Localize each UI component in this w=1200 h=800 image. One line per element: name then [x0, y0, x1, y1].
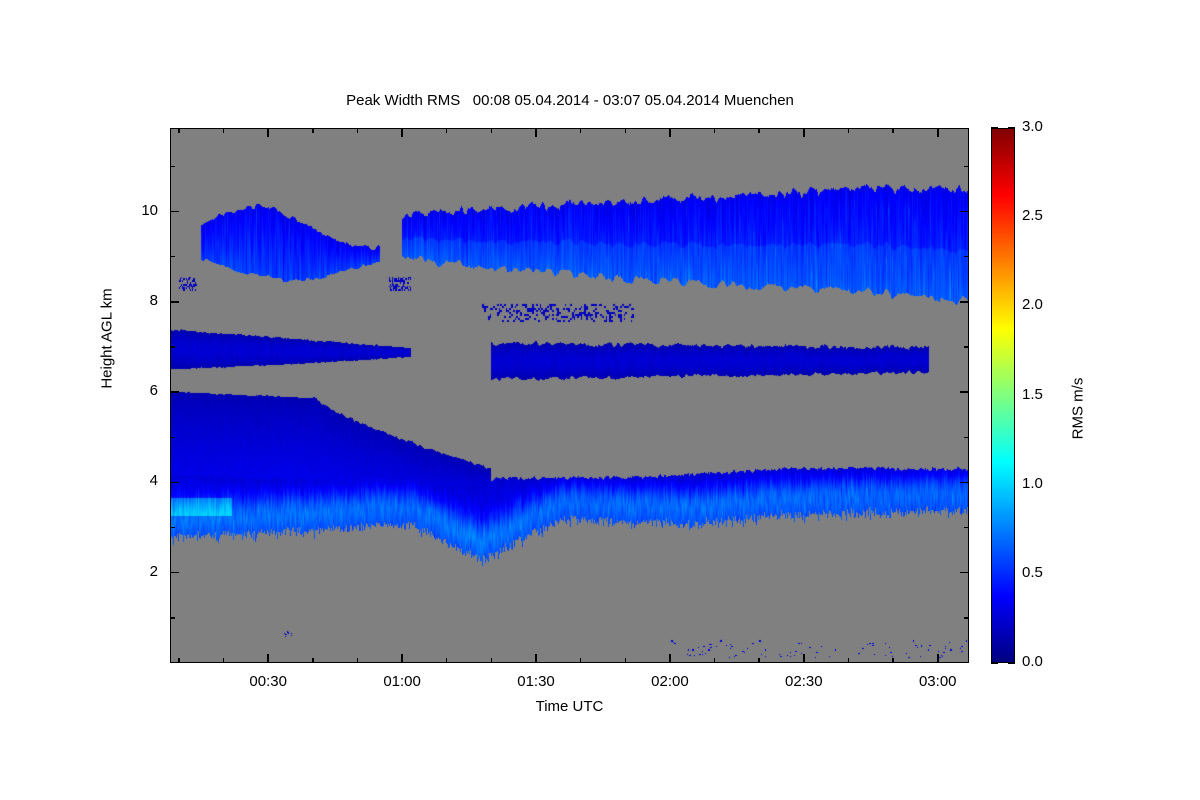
colorbar-gradient-canvas	[991, 128, 1015, 663]
heatmap-plot-area	[170, 128, 969, 663]
colorbar-label: RMS m/s	[1070, 309, 1087, 509]
y-axis-tick-label: 2	[118, 563, 158, 580]
colorbar-tick-label: 0.5	[1022, 564, 1070, 581]
colorbar-tick-label: 3.0	[1022, 118, 1070, 135]
colorbar-tick-label: 2.0	[1022, 296, 1070, 313]
colorbar-tick-label: 2.5	[1022, 207, 1070, 224]
x-axis-tick	[401, 654, 403, 663]
x-axis-minor-tick	[714, 128, 716, 133]
x-axis-tick	[535, 128, 537, 137]
y-axis-tick	[170, 391, 179, 393]
y-axis-tick	[960, 482, 969, 484]
x-axis-minor-tick	[446, 128, 448, 133]
x-axis-minor-tick	[892, 658, 894, 663]
y-axis-minor-tick	[170, 346, 175, 348]
x-axis-minor-tick	[758, 128, 760, 133]
x-axis-minor-tick	[178, 128, 180, 133]
y-axis-tick-label: 4	[118, 472, 158, 489]
x-axis-tick	[401, 128, 403, 137]
x-axis-tick-label: 02:00	[630, 673, 710, 690]
x-axis-tick-label: 03:00	[898, 673, 978, 690]
colorbar-tick-label: 1.0	[1022, 475, 1070, 492]
x-axis-tick-label: 01:30	[496, 673, 576, 690]
x-axis-minor-tick	[312, 658, 314, 663]
y-axis-tick-label: 10	[118, 202, 158, 219]
colorbar	[991, 128, 1015, 663]
y-axis-minor-tick	[170, 617, 175, 619]
x-axis-minor-tick	[223, 658, 225, 663]
y-axis-minor-tick	[170, 437, 175, 439]
x-axis-minor-tick	[625, 128, 627, 133]
y-axis-tick-label: 6	[118, 382, 158, 399]
x-axis-minor-tick	[625, 658, 627, 663]
y-axis-tick	[170, 482, 179, 484]
x-axis-tick	[669, 654, 671, 663]
x-axis-minor-tick	[491, 658, 493, 663]
x-axis-minor-tick	[758, 658, 760, 663]
x-axis-minor-tick	[848, 658, 850, 663]
y-axis-tick	[960, 301, 969, 303]
y-axis-minor-tick	[170, 527, 175, 529]
y-axis-tick-label: 8	[118, 292, 158, 309]
y-axis-minor-tick	[964, 437, 969, 439]
y-axis-tick	[960, 572, 969, 574]
colorbar-tick-label: 1.5	[1022, 386, 1070, 403]
x-axis-minor-tick	[580, 658, 582, 663]
x-axis-tick	[803, 128, 805, 137]
figure-canvas: Peak Width RMS 00:08 05.04.2014 - 03:07 …	[0, 0, 1200, 800]
x-axis-tick	[803, 654, 805, 663]
y-axis-minor-tick	[964, 346, 969, 348]
x-axis-minor-tick	[357, 128, 359, 133]
x-axis-minor-tick	[491, 128, 493, 133]
y-axis-label: Height AGL km	[99, 229, 116, 449]
y-axis-minor-tick	[170, 166, 175, 168]
x-axis-minor-tick	[446, 658, 448, 663]
page-title: Peak Width RMS 00:08 05.04.2014 - 03:07 …	[0, 92, 1140, 109]
x-axis-tick	[937, 654, 939, 663]
x-axis-minor-tick	[714, 658, 716, 663]
x-axis-tick	[267, 128, 269, 137]
x-axis-tick	[669, 128, 671, 137]
x-axis-minor-tick	[223, 128, 225, 133]
y-axis-minor-tick	[964, 166, 969, 168]
x-axis-minor-tick	[312, 128, 314, 133]
x-axis-tick-label: 00:30	[228, 673, 308, 690]
colorbar-tick-label: 0.0	[1022, 653, 1070, 670]
x-axis-tick-label: 02:30	[764, 673, 844, 690]
y-axis-minor-tick	[964, 256, 969, 258]
x-axis-minor-tick	[357, 658, 359, 663]
x-axis-label: Time UTC	[170, 698, 969, 715]
x-axis-tick	[937, 128, 939, 137]
y-axis-minor-tick	[170, 256, 175, 258]
heatmap-data-canvas	[170, 128, 969, 663]
y-axis-tick	[170, 211, 179, 213]
x-axis-minor-tick	[580, 128, 582, 133]
x-axis-minor-tick	[178, 658, 180, 663]
y-axis-tick	[960, 391, 969, 393]
y-axis-minor-tick	[964, 617, 969, 619]
x-axis-minor-tick	[848, 128, 850, 133]
y-axis-tick	[960, 211, 969, 213]
x-axis-tick	[267, 654, 269, 663]
x-axis-tick	[535, 654, 537, 663]
y-axis-minor-tick	[964, 527, 969, 529]
x-axis-minor-tick	[892, 128, 894, 133]
x-axis-tick-label: 01:00	[362, 673, 442, 690]
y-axis-tick	[170, 301, 179, 303]
y-axis-tick	[170, 572, 179, 574]
